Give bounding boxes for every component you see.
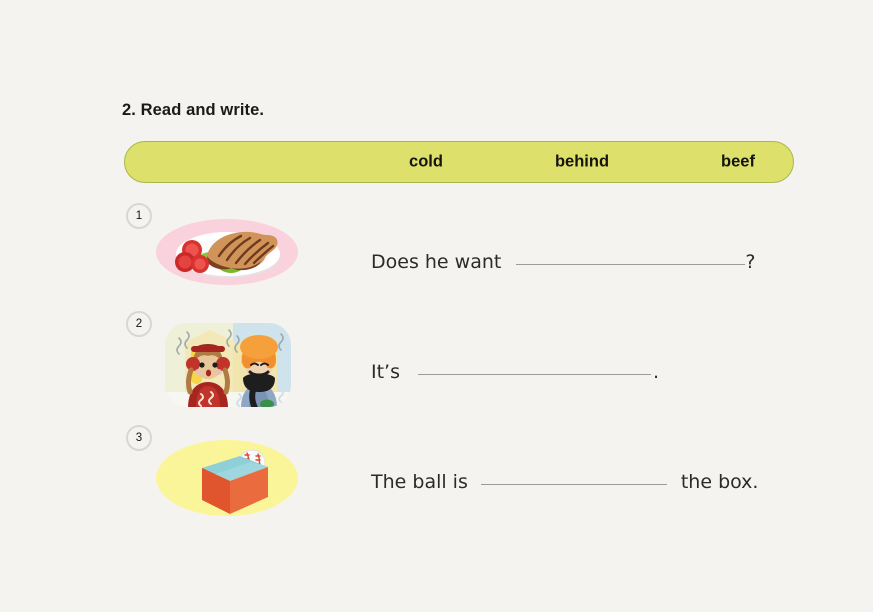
sentence-text-before: It’s [371, 361, 400, 383]
cold-children-illustration [155, 320, 300, 400]
item-1-sentence: Does he want ? [371, 251, 755, 273]
sentence-text-after: ? [745, 251, 755, 273]
sentence-text-after: the box. [681, 471, 759, 493]
sentence-text-after: . [653, 361, 659, 383]
sentence-text-before: The ball is [371, 471, 468, 493]
beef-steak-illustration [155, 212, 300, 292]
page-title: 2. Read and write. [122, 101, 264, 120]
item-number-badge: 2 [126, 311, 152, 337]
item-number-badge: 1 [126, 203, 152, 229]
worksheet-page: 2. Read and write. cold behind beef 1 [0, 0, 873, 612]
word-bank: cold behind beef [124, 141, 794, 183]
item-number-badge: 3 [126, 425, 152, 451]
word-bank-option-cold[interactable]: cold [409, 153, 443, 172]
answer-blank-2[interactable] [418, 374, 651, 375]
item-3-sentence: The ball is the box. [371, 471, 758, 493]
item-2-sentence: It’s . [371, 361, 659, 383]
ball-behind-box-illustration [155, 434, 300, 514]
answer-blank-3[interactable] [481, 484, 667, 485]
word-bank-option-behind[interactable]: behind [555, 153, 609, 172]
answer-blank-1[interactable] [516, 264, 745, 265]
sentence-text-before: Does he want [371, 251, 501, 273]
word-bank-option-beef[interactable]: beef [721, 153, 755, 172]
